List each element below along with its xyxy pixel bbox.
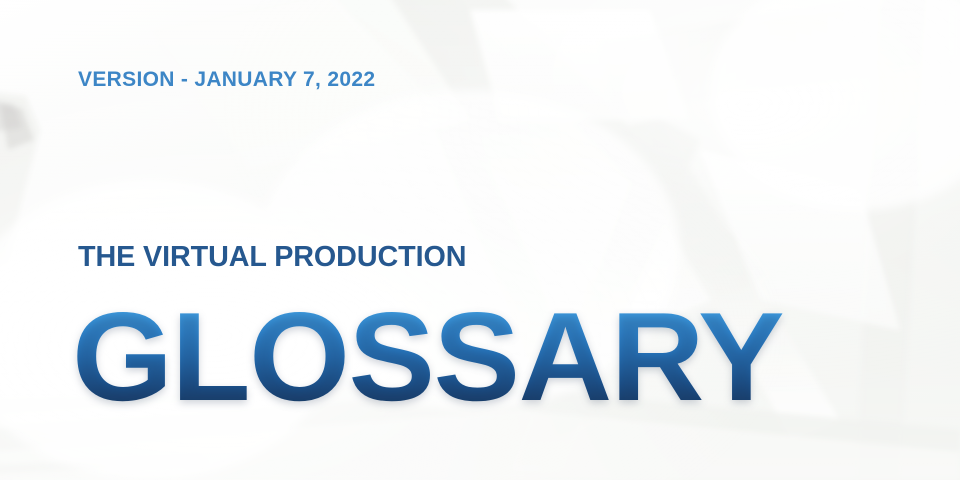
cover-content: VERSION - JANUARY 7, 2022 THE VIRTUAL PR… [0, 0, 960, 480]
glossary-wordmark-shadow: GLOSSARY [72, 297, 783, 423]
cover-eyebrow-title: THE VIRTUAL PRODUCTION [78, 243, 466, 272]
glossary-cover-page: VERSION - JANUARY 7, 2022 THE VIRTUAL PR… [0, 0, 960, 480]
version-label: VERSION - JANUARY 7, 2022 [78, 69, 375, 90]
